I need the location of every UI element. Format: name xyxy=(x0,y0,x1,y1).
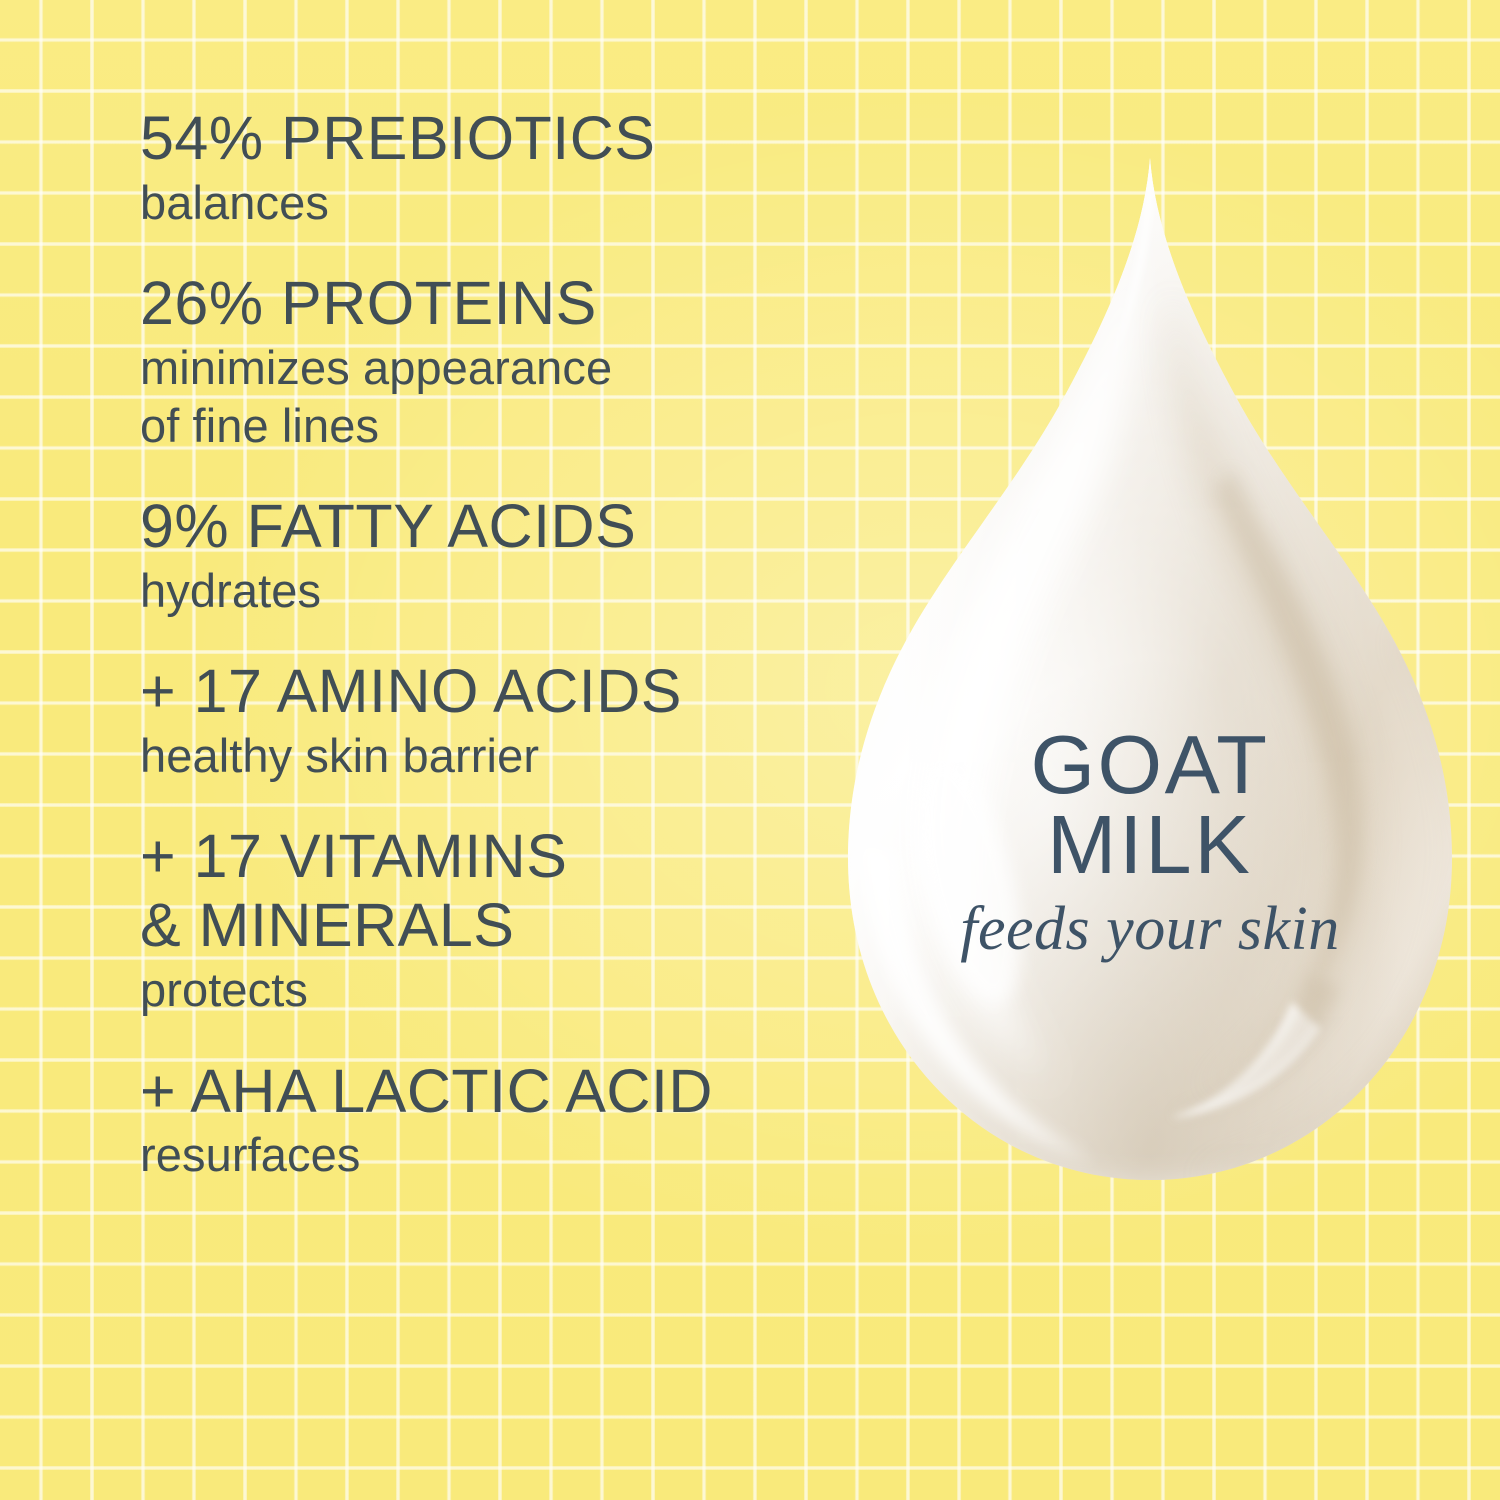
fact-item: + 17 VITAMINS & MINERALS protects xyxy=(140,822,860,1018)
fact-title: 54% PREBIOTICS xyxy=(140,104,860,173)
ingredient-facts-list: 54% PREBIOTICS balances 26% PROTEINS min… xyxy=(140,104,860,1184)
ingredient-infographic: 54% PREBIOTICS balances 26% PROTEINS min… xyxy=(0,0,1500,1500)
fact-subtitle: hydrates xyxy=(140,562,860,619)
fact-item: + 17 AMINO ACIDS healthy skin barrier xyxy=(140,657,860,784)
fact-item: 54% PREBIOTICS balances xyxy=(140,104,860,231)
fact-subtitle: minimizes appearance of fine lines xyxy=(140,339,860,454)
droplet-shading xyxy=(840,140,1460,1220)
fact-subtitle: balances xyxy=(140,174,860,231)
fact-item: 26% PROTEINS minimizes appearance of fin… xyxy=(140,269,860,454)
fact-subtitle: protects xyxy=(140,961,860,1018)
fact-title: 9% FATTY ACIDS xyxy=(140,492,860,561)
milk-droplet-illustration xyxy=(840,140,1460,1220)
fact-title: + AHA LACTIC ACID xyxy=(140,1057,860,1126)
fact-title: 26% PROTEINS xyxy=(140,269,860,338)
fact-title: + 17 VITAMINS & MINERALS xyxy=(140,822,860,960)
fact-item: + AHA LACTIC ACID resurfaces xyxy=(140,1057,860,1184)
milk-droplet-icon xyxy=(840,140,1460,1220)
fact-subtitle: resurfaces xyxy=(140,1126,860,1183)
fact-subtitle: healthy skin barrier xyxy=(140,727,860,784)
fact-item: 9% FATTY ACIDS hydrates xyxy=(140,492,860,619)
fact-title: + 17 AMINO ACIDS xyxy=(140,657,860,726)
